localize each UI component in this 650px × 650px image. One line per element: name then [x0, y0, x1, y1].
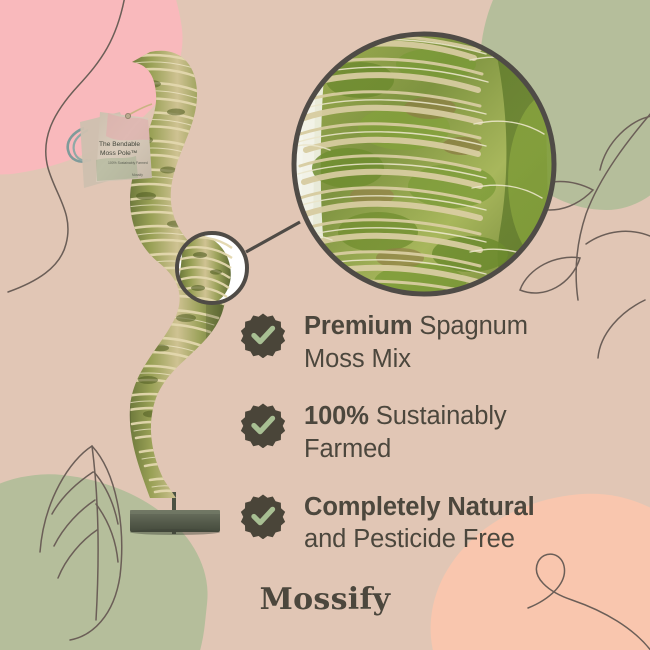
feature-item: Premium Spagnum Moss Mix	[240, 309, 635, 375]
check-badge-icon	[240, 493, 286, 539]
hang-tag-line1: The Bendable	[99, 141, 140, 148]
check-badge-icon	[240, 402, 286, 448]
product-marketing-image: The Bendable Moss Pole™ 100% Sustainably…	[0, 0, 650, 650]
feature-text: Completely Natural and Pesticide Free	[304, 490, 535, 556]
magnifier-large-circle	[284, 34, 604, 300]
feature-regular-text: Sustainably	[369, 402, 507, 430]
feature-text: Premium Spagnum Moss Mix	[304, 309, 528, 375]
feature-regular-text: Spagnum	[412, 312, 527, 340]
feature-line2-text: and Pesticide Free	[304, 525, 515, 553]
check-badge-icon	[240, 312, 286, 358]
feature-item: Completely Natural and Pesticide Free	[240, 490, 635, 556]
hang-tag: The Bendable Moss Pole™ 100% Sustainably…	[68, 104, 152, 188]
feature-bold-text: 100%	[304, 402, 369, 430]
brand-logo: Mossify	[0, 582, 650, 617]
feature-bold-text: Premium	[304, 312, 412, 340]
feature-item: 100% Sustainably Farmed	[240, 399, 635, 465]
feature-text: 100% Sustainably Farmed	[304, 399, 507, 465]
magnifier-small-circle	[177, 233, 247, 306]
hang-tag-line3: 100% Sustainably Farmed	[108, 161, 148, 165]
magnifier-connector-line	[246, 222, 300, 252]
pole-stand	[130, 492, 220, 535]
hang-tag-line2: Moss Pole™	[100, 150, 137, 157]
feature-line2-text: Farmed	[304, 435, 391, 463]
feature-list: Premium Spagnum Moss Mix 100% Sustainabl…	[240, 309, 635, 580]
feature-line2-text: Moss Mix	[304, 345, 411, 373]
hang-tag-brand: Mossify	[132, 173, 143, 177]
feature-bold-text: Completely Natural	[304, 493, 535, 521]
